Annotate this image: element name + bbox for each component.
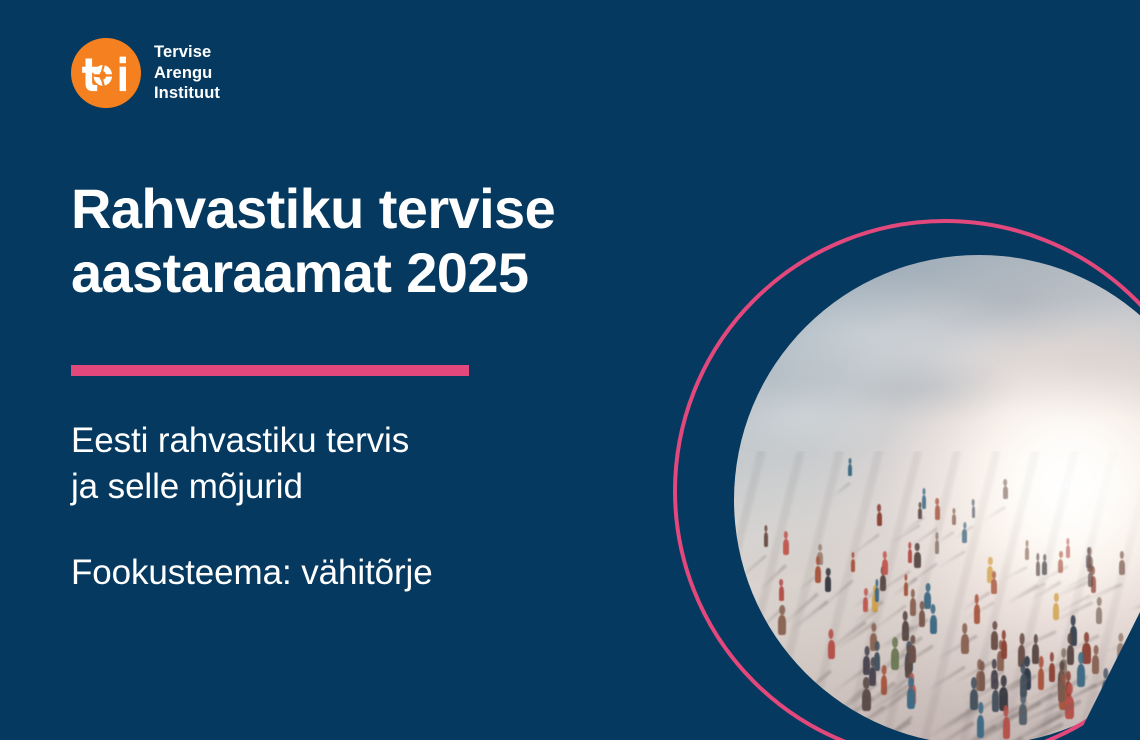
photo-vignette bbox=[734, 255, 1140, 740]
crowd-figure bbox=[764, 532, 768, 546]
crowd-figure bbox=[1058, 671, 1065, 691]
pink-outline-circle bbox=[673, 219, 1140, 740]
corner-mask bbox=[1076, 612, 1140, 740]
photo-cloud-texture bbox=[734, 255, 1140, 740]
crowd-figure bbox=[1102, 680, 1110, 703]
crowd-figure bbox=[1023, 668, 1031, 690]
crowd-figure bbox=[905, 657, 912, 678]
crowd-figure bbox=[974, 604, 980, 623]
crowd-figure bbox=[872, 594, 877, 611]
crowd-figure bbox=[1065, 681, 1071, 700]
crowd-figure bbox=[1092, 655, 1099, 674]
photo-floor-streaks bbox=[734, 451, 1140, 740]
crowd-figure bbox=[1086, 554, 1091, 568]
crowd-figure bbox=[924, 592, 931, 609]
crowd-figure bbox=[935, 505, 940, 519]
crowd-figure bbox=[825, 576, 831, 592]
crowd-figure bbox=[779, 586, 784, 600]
crowd-figure bbox=[1058, 680, 1065, 701]
crowd-figure bbox=[1067, 645, 1074, 666]
crowd-figure bbox=[979, 671, 985, 691]
crowd-figure bbox=[1038, 668, 1045, 690]
crowd-figure bbox=[919, 610, 925, 627]
crowd-figure bbox=[1025, 547, 1029, 560]
crowd-figure bbox=[999, 687, 1008, 711]
crowd-figure bbox=[1058, 559, 1063, 574]
crowd-figure bbox=[976, 671, 984, 692]
crowd-figure bbox=[907, 688, 915, 709]
crowd-figure bbox=[905, 652, 913, 672]
crowd-figure bbox=[991, 579, 996, 594]
crowd-figure bbox=[930, 615, 937, 635]
crowd-figure bbox=[918, 508, 922, 519]
report-cover: Tervise Arengu Instituut Rahvastiku terv… bbox=[0, 0, 1140, 740]
crowd-figure bbox=[1091, 576, 1097, 593]
crowd-figure bbox=[874, 652, 880, 672]
crowd-figure bbox=[851, 559, 855, 572]
crowd-figure bbox=[962, 529, 967, 543]
crowd-figure bbox=[875, 587, 879, 602]
crowd-figure bbox=[1117, 643, 1124, 662]
crowd-figure bbox=[863, 656, 870, 675]
crowd-figure bbox=[1042, 561, 1047, 575]
crowd-figure bbox=[1032, 644, 1038, 664]
crowd-figure bbox=[1059, 687, 1067, 711]
crowd-figure bbox=[870, 633, 877, 652]
crowd-figure bbox=[972, 506, 976, 518]
crowd-figure bbox=[891, 648, 899, 669]
crowd-figure bbox=[1018, 645, 1025, 667]
crowd-figure bbox=[992, 690, 999, 712]
crowd-figure bbox=[977, 715, 984, 739]
crowd-figure bbox=[862, 689, 871, 711]
crowd-figure bbox=[1082, 643, 1090, 664]
crowd-figure bbox=[987, 566, 993, 583]
crowd-figure bbox=[783, 539, 789, 555]
crowd-figure bbox=[914, 552, 920, 569]
crowd-figure bbox=[970, 689, 978, 710]
photo-background bbox=[734, 255, 1140, 740]
crowd-figure bbox=[991, 631, 998, 650]
crowd-figure bbox=[1065, 696, 1074, 720]
tai-organisation-name: Tervise Arengu Instituut bbox=[154, 42, 220, 103]
crowd-figure bbox=[908, 549, 913, 562]
crowd-figure bbox=[882, 559, 888, 575]
crowd-figure bbox=[922, 495, 926, 509]
crowd-figure bbox=[848, 464, 852, 476]
crowd-figure bbox=[952, 514, 956, 526]
crowd-figure bbox=[935, 540, 939, 555]
crowd-figure bbox=[869, 667, 876, 686]
crowd-figure bbox=[1049, 663, 1055, 683]
crowd-figure bbox=[1053, 603, 1059, 621]
crowd-figure bbox=[1132, 641, 1139, 659]
crowd-figure bbox=[817, 552, 822, 565]
crowd-figure bbox=[1087, 556, 1093, 572]
crowd-figure bbox=[881, 675, 888, 695]
crowd-figure bbox=[877, 512, 883, 526]
cover-title: Rahvastiku tervise aastaraamat 2025 bbox=[71, 177, 731, 305]
crowd-figure bbox=[1003, 717, 1010, 739]
crowd-figure bbox=[880, 575, 886, 592]
cover-focus-topic: Fookusteema: vähitõrje bbox=[71, 550, 711, 596]
crowd-figure bbox=[1096, 607, 1102, 625]
crowd-walking-toward-light-photo bbox=[734, 255, 1140, 740]
crowd-figure bbox=[1020, 674, 1027, 697]
crowd-figure bbox=[997, 651, 1003, 671]
crowd-figure bbox=[1019, 704, 1027, 725]
crowd-figure bbox=[815, 566, 821, 584]
crowd-figure bbox=[1001, 640, 1007, 659]
cover-subtitle: Eesti rahvastiku tervis ja selle mõjurid bbox=[71, 418, 671, 509]
crowd-figure bbox=[961, 634, 969, 654]
crowd-figure bbox=[910, 598, 916, 615]
crowd-figure bbox=[1060, 659, 1068, 678]
crowd-figure bbox=[1003, 486, 1008, 499]
crowd-figure bbox=[778, 615, 786, 635]
crowd-figure bbox=[1119, 560, 1125, 575]
crowd-figure bbox=[904, 582, 908, 597]
crowd-figure bbox=[1088, 572, 1093, 586]
crowd-figure bbox=[828, 640, 835, 660]
crowd-figure bbox=[1066, 545, 1070, 558]
crowd-figure bbox=[1130, 646, 1136, 666]
crowd-figure bbox=[991, 670, 997, 689]
pink-divider-rule bbox=[71, 365, 469, 376]
crowd-figure bbox=[908, 684, 916, 705]
tai-logo-icon bbox=[71, 38, 141, 108]
tai-logo: Tervise Arengu Instituut bbox=[71, 38, 220, 108]
crowd-figure bbox=[902, 621, 908, 641]
crowd-figures bbox=[734, 255, 1140, 740]
crowd-figure bbox=[1077, 664, 1085, 687]
crowd-figure bbox=[1070, 626, 1077, 646]
crowd-figure bbox=[863, 597, 869, 613]
crowd-figure bbox=[909, 645, 916, 664]
crowd-figure bbox=[1036, 561, 1041, 576]
